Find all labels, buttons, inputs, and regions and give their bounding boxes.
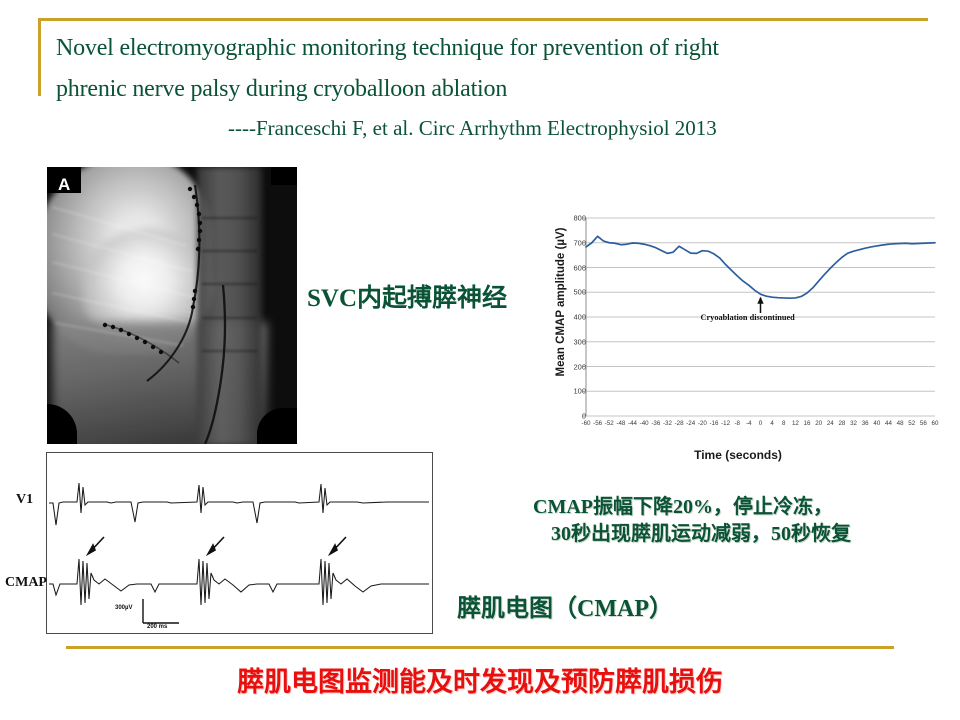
- note-line-2: 30秒出现膵肌运动减弱，50秒恢复: [533, 521, 953, 548]
- fluoroscopy-body: A: [47, 167, 297, 444]
- footer-divider: [66, 646, 894, 649]
- slide-root: Novel electromyographic monitoring techn…: [0, 0, 960, 720]
- emg-label-v1: V1: [16, 492, 33, 508]
- emg-tracing-panel: 300µV 200 ms: [46, 452, 433, 634]
- title-line-2: phrenic nerve palsy during cryoballoon a…: [56, 69, 936, 110]
- emg-scale-horizontal-label: 200 ms: [147, 624, 167, 630]
- emg-scale-vertical-label: 300µV: [115, 605, 132, 611]
- title-line-1: Novel electromyographic monitoring techn…: [56, 28, 936, 69]
- citation: ----Franceschi F, et al. Circ Arrhythm E…: [228, 116, 948, 141]
- note-line-1: CMAP振幅下降20%，停止冷冻，: [533, 494, 953, 521]
- chart-annotation-label: Cryoablation discontinued: [701, 313, 795, 322]
- emg-label-cmap: CMAP: [5, 575, 47, 591]
- svc-caption: SVC内起搏膵神经: [307, 278, 507, 314]
- emg-waveforms: [47, 453, 431, 632]
- footer-conclusion: 膵肌电图监测能及时发现及预防膵肌损伤: [0, 660, 960, 699]
- emg-caption: 膵肌电图（CMAP）: [457, 588, 673, 623]
- fluoroscopy-image: A: [47, 167, 297, 444]
- cmap-findings-note: CMAP振幅下降20%，停止冷冻， 30秒出现膵肌运动减弱，50秒恢复: [533, 494, 953, 548]
- image-corner-mask-tr: [271, 167, 297, 185]
- catheter-overlay: [47, 167, 297, 444]
- cmap-amplitude-chart: Mean CMAP amplitude (µV) 010020030040050…: [528, 196, 948, 474]
- panel-label-a: A: [58, 175, 70, 195]
- page-title: Novel electromyographic monitoring techn…: [56, 28, 936, 110]
- chart-x-axis-label: Time (seconds): [528, 448, 948, 462]
